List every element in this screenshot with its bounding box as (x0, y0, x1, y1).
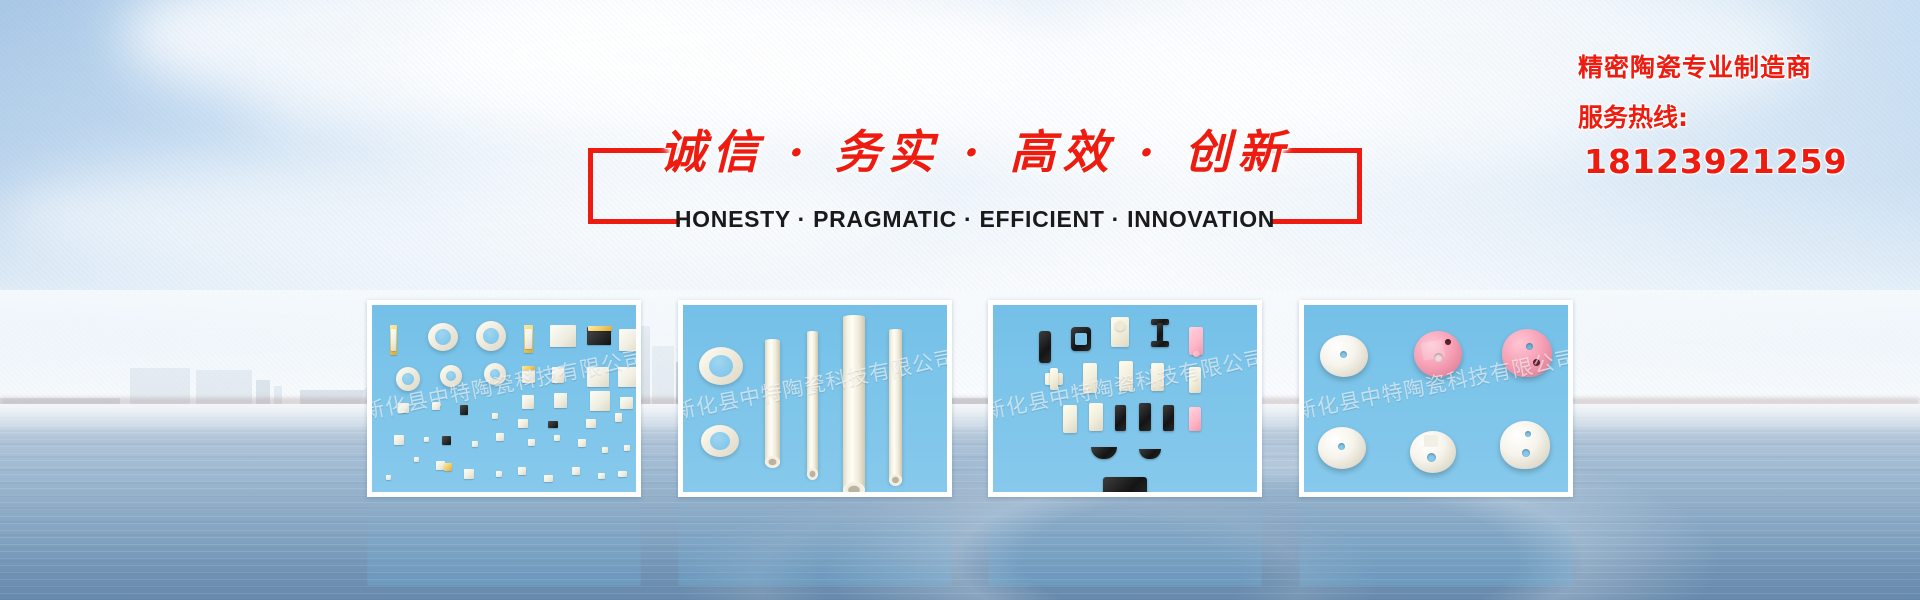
panel-reflection (367, 500, 641, 586)
banner-stage: 诚信 · 务实 · 高效 · 创新 HONESTY · PRAGMATIC · … (0, 0, 1920, 600)
product-panel-ceramic-discs[interactable]: 新化县中特陶瓷科技有限公司 (1299, 300, 1573, 497)
panel-reflection (988, 500, 1262, 586)
product-panel-smd-components[interactable]: 新化县中特陶瓷科技有限公司 (367, 300, 641, 497)
product-panel-row: 新化县中特陶瓷科技有限公司 新化县中特陶瓷科技有限公司 (0, 0, 1920, 600)
panel-reflection (678, 500, 952, 586)
product-panel-ceramic-blocks[interactable]: 新化县中特陶瓷科技有限公司 (988, 300, 1262, 497)
panel-reflection (1299, 500, 1573, 586)
product-panel-ceramic-tubes[interactable]: 新化县中特陶瓷科技有限公司 (678, 300, 952, 497)
